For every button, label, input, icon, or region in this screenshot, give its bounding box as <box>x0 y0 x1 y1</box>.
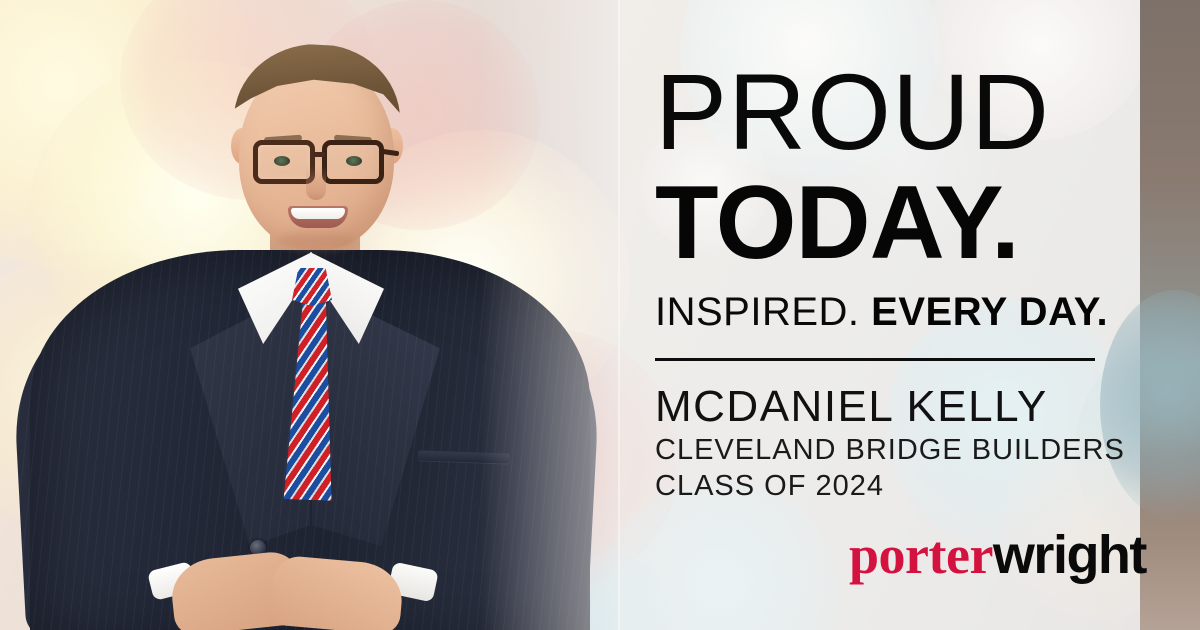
portrait-edge-fade <box>480 0 620 630</box>
headline-proud: PROUD <box>655 60 1050 164</box>
nose <box>306 166 326 200</box>
logo-text-wright: wright <box>993 525 1146 585</box>
tagline-every-day: EVERY DAY. <box>871 290 1108 334</box>
right-edge-band <box>1140 0 1200 630</box>
porter-wright-logo: porterwright <box>849 528 1146 582</box>
chin-shadow <box>278 232 356 250</box>
eyeglasses-lens-right <box>322 140 384 184</box>
eyeglasses-bridge <box>313 152 325 157</box>
class-year: CLASS OF 2024 <box>655 470 884 503</box>
announcement-card: PROUD TODAY. INSPIRED. EVERY DAY. MCDANI… <box>0 0 1200 630</box>
portrait-photo <box>0 0 620 630</box>
tagline: INSPIRED. EVERY DAY. <box>655 292 1108 332</box>
teeth <box>291 208 345 219</box>
logo-text-porter: porter <box>849 525 993 585</box>
horizontal-divider <box>655 358 1095 361</box>
text-content: PROUD TODAY. INSPIRED. EVERY DAY. MCDANI… <box>655 0 1115 630</box>
necktie-knot <box>292 268 332 306</box>
tagline-inspired: INSPIRED. <box>655 290 860 334</box>
smile <box>288 206 348 228</box>
headline-today: TODAY. <box>655 174 1019 274</box>
honoree-name: MCDANIEL KELLY <box>655 382 1048 432</box>
organization-name: CLEVELAND BRIDGE BUILDERS <box>655 434 1125 467</box>
